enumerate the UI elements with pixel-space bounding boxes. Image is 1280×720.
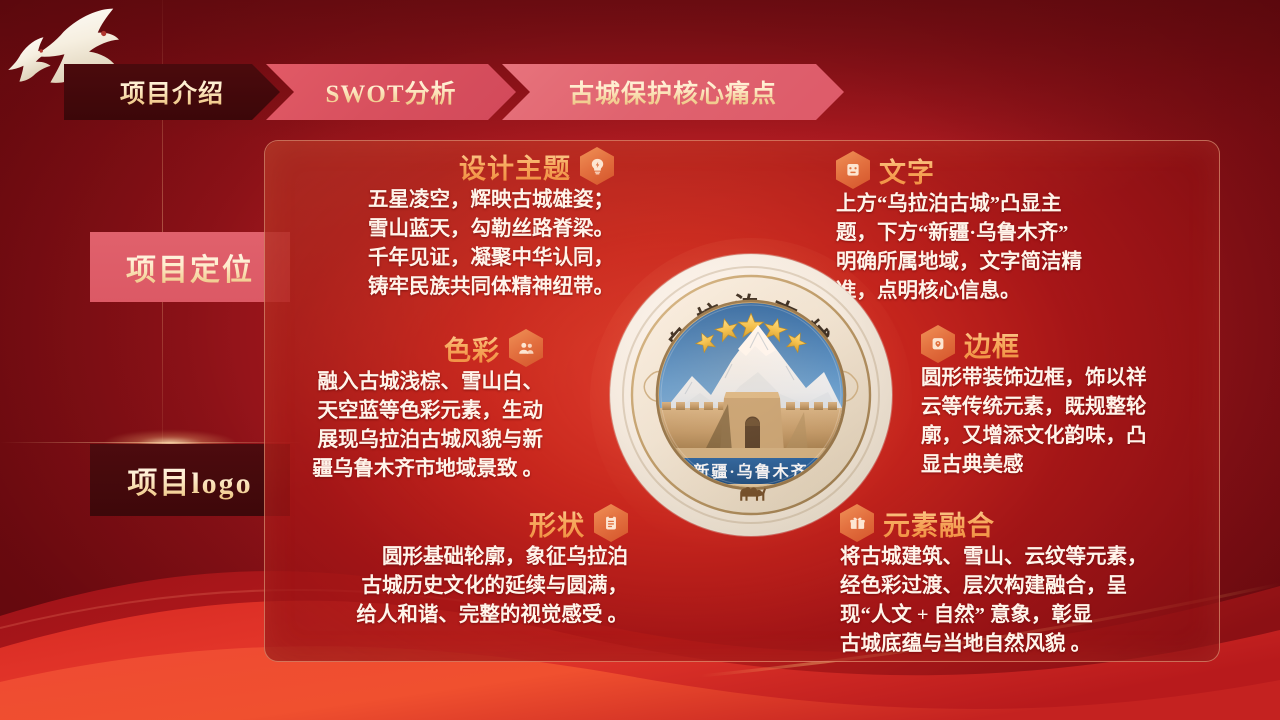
block-border: 边框 圆形带装饰边框，饰以祥 云等传统元素，既规整轮 廓，又增添文化韵味，凸 显…	[921, 324, 1183, 480]
tab-core-pain-points-label: 古城保护核心痛点	[569, 74, 777, 110]
tab-project-intro[interactable]: 项目介绍	[64, 64, 280, 120]
block-color-header: 色彩	[268, 328, 543, 368]
block-fusion-title: 元素融合	[883, 504, 995, 543]
block-border-header: 边框	[921, 324, 1183, 364]
block-fusion: 元素融合 将古城建筑、雪山、云纹等元素， 经色彩过渡、层次构建融合，呈 现“人文…	[840, 503, 1200, 659]
block-shape-title: 形状	[529, 504, 585, 543]
tab-project-intro-label: 项目介绍	[120, 74, 224, 110]
block-shape-text: 圆形基础轮廓，象征乌拉泊 古城历史文化的延续与圆满， 给人和谐、完整的视觉感受 …	[296, 543, 628, 630]
block-border-text: 圆形带装饰边框，饰以祥 云等传统元素，既规整轮 廓，又增添文化韵味，凸 显古典美…	[921, 364, 1183, 480]
sidebar-item-positioning-label: 项目定位	[126, 245, 254, 289]
block-design-theme-header: 设计主题	[296, 146, 614, 186]
sidebar-item-logo[interactable]: 项目logo	[90, 444, 290, 516]
tab-swot-analysis[interactable]: SWOT分析	[266, 64, 516, 120]
block-color-text: 融入古城浅棕、雪山白、 天空蓝等色彩元素，生动 展现乌拉泊古城风貌与新 疆乌鲁木…	[268, 368, 543, 484]
emblem-glow	[590, 238, 912, 560]
block-text-header: 文字	[836, 150, 1168, 190]
block-design-theme-text: 五星凌空，辉映古城雄姿； 雪山蓝天，勾勒丝路脊梁。 千年见证，凝聚中华认同， 铸…	[296, 186, 614, 302]
badge-shield-icon	[921, 325, 955, 363]
block-fusion-header: 元素融合	[840, 503, 1200, 543]
block-shape: 形状 圆形基础轮廓，象征乌拉泊 古城历史文化的延续与圆满， 给人和谐、完整的视觉…	[296, 503, 628, 630]
speech-card-icon	[836, 151, 870, 189]
block-shape-header: 形状	[296, 503, 628, 543]
tab-swot-analysis-label: SWOT分析	[325, 74, 456, 110]
sidebar-item-positioning[interactable]: 项目定位	[90, 232, 290, 302]
top-nav-tabs[interactable]: 项目介绍 SWOT分析 古城保护核心痛点	[64, 64, 844, 120]
block-border-title: 边框	[964, 325, 1020, 364]
block-color-title: 色彩	[444, 329, 500, 368]
project-logo-emblem[interactable]: 乌拉泊古城	[608, 252, 894, 538]
idea-head-icon	[580, 147, 614, 185]
people-icon	[509, 329, 543, 367]
sidebar-item-logo-label: 项目logo	[127, 458, 252, 502]
block-color: 色彩 融入古城浅棕、雪山白、 天空蓝等色彩元素，生动 展现乌拉泊古城风貌与新 疆…	[268, 328, 543, 484]
block-design-theme-title: 设计主题	[459, 147, 571, 186]
block-text-title: 文字	[879, 151, 935, 190]
block-fusion-text: 将古城建筑、雪山、云纹等元素， 经色彩过渡、层次构建融合，呈 现“人文 + 自然…	[840, 543, 1200, 659]
tab-core-pain-points[interactable]: 古城保护核心痛点	[502, 64, 844, 120]
block-design-theme: 设计主题 五星凌空，辉映古城雄姿； 雪山蓝天，勾勒丝路脊梁。 千年见证，凝聚中华…	[296, 146, 614, 302]
